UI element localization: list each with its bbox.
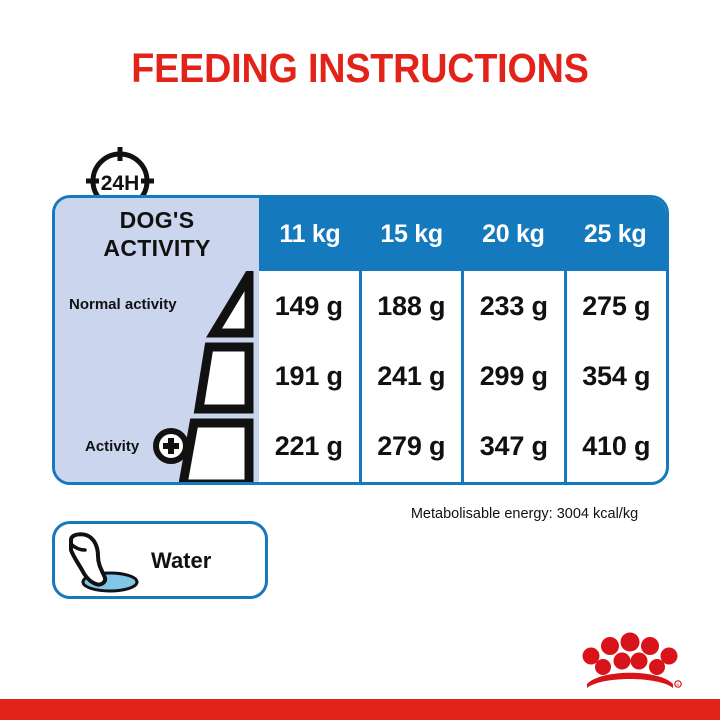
cell-moderate-25kg: 354 g bbox=[567, 341, 667, 411]
cell-plus-20kg: 347 g bbox=[464, 412, 564, 482]
weight-header-row: 11 kg 15 kg 20 kg 25 kg bbox=[259, 198, 666, 271]
water-label: Water bbox=[151, 548, 211, 574]
data-column-15kg: 188 g 241 g 279 g bbox=[359, 271, 462, 482]
royal-canin-logo: R bbox=[577, 629, 683, 691]
clock-badge-label: 24H bbox=[101, 172, 140, 195]
cell-normal-25kg: 275 g bbox=[567, 271, 667, 341]
page-title: FEEDING INSTRUCTIONS bbox=[29, 44, 691, 92]
column-header-11kg: 11 kg bbox=[259, 198, 361, 271]
cell-plus-11kg: 221 g bbox=[259, 412, 359, 482]
data-column-11kg: 149 g 191 g 221 g bbox=[259, 271, 359, 482]
cell-plus-25kg: 410 g bbox=[567, 412, 667, 482]
activity-plus-icon bbox=[151, 426, 191, 466]
activity-row-label-plus: Activity bbox=[85, 438, 139, 455]
cell-normal-15kg: 188 g bbox=[362, 271, 462, 341]
feeding-table: DOG'S ACTIVITY 11 kg 15 kg 20 kg 25 kg bbox=[52, 195, 669, 485]
metabolisable-energy-note: Metabolisable energy: 3004 kcal/kg bbox=[380, 506, 669, 522]
water-box: Water bbox=[52, 521, 268, 599]
activity-column-header: DOG'S ACTIVITY bbox=[55, 206, 259, 262]
cell-normal-11kg: 149 g bbox=[259, 271, 359, 341]
column-header-15kg: 15 kg bbox=[361, 198, 463, 271]
feeding-instructions-page: FEEDING INSTRUCTIONS 24H DOG'S ACTIVITY … bbox=[0, 0, 720, 720]
cell-plus-15kg: 279 g bbox=[362, 412, 462, 482]
registered-mark: R bbox=[677, 682, 680, 687]
column-header-25kg: 25 kg bbox=[564, 198, 666, 271]
bottom-red-bar bbox=[0, 699, 720, 720]
data-column-20kg: 233 g 299 g 347 g bbox=[461, 271, 564, 482]
cell-moderate-11kg: 191 g bbox=[259, 341, 359, 411]
activity-header-line2: ACTIVITY bbox=[55, 234, 259, 262]
cell-moderate-20kg: 299 g bbox=[464, 341, 564, 411]
water-jug-pouring-icon bbox=[65, 532, 149, 594]
activity-row-label-normal: Normal activity bbox=[69, 296, 177, 313]
column-header-20kg: 20 kg bbox=[463, 198, 565, 271]
activity-header-line1: DOG'S bbox=[55, 206, 259, 234]
cell-moderate-15kg: 241 g bbox=[362, 341, 462, 411]
feeding-values-grid: 149 g 191 g 221 g 188 g 241 g 279 g 233 … bbox=[259, 271, 666, 482]
cell-normal-20kg: 233 g bbox=[464, 271, 564, 341]
data-column-25kg: 275 g 354 g 410 g bbox=[564, 271, 667, 482]
